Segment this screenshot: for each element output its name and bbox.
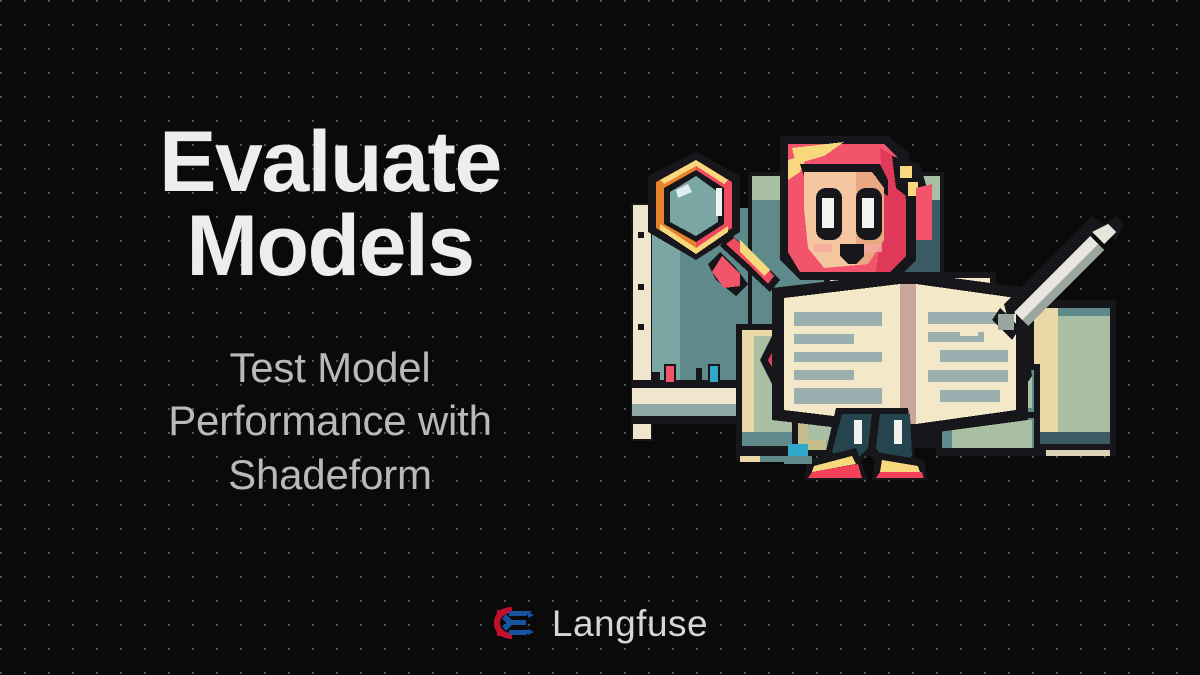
brand-footer: Langfuse [0,604,1200,642]
langfuse-logo-icon [492,604,536,642]
page-subtitle: Test Model Performance with Shadeform [60,289,600,502]
page-title: Evaluate Models [60,120,600,289]
hero-text-column: Evaluate Models Test Model Performance w… [60,120,600,502]
brand-name: Langfuse [552,605,708,642]
hero-illustration [616,128,1136,500]
share-card: Evaluate Models Test Model Performance w… [0,0,1200,675]
